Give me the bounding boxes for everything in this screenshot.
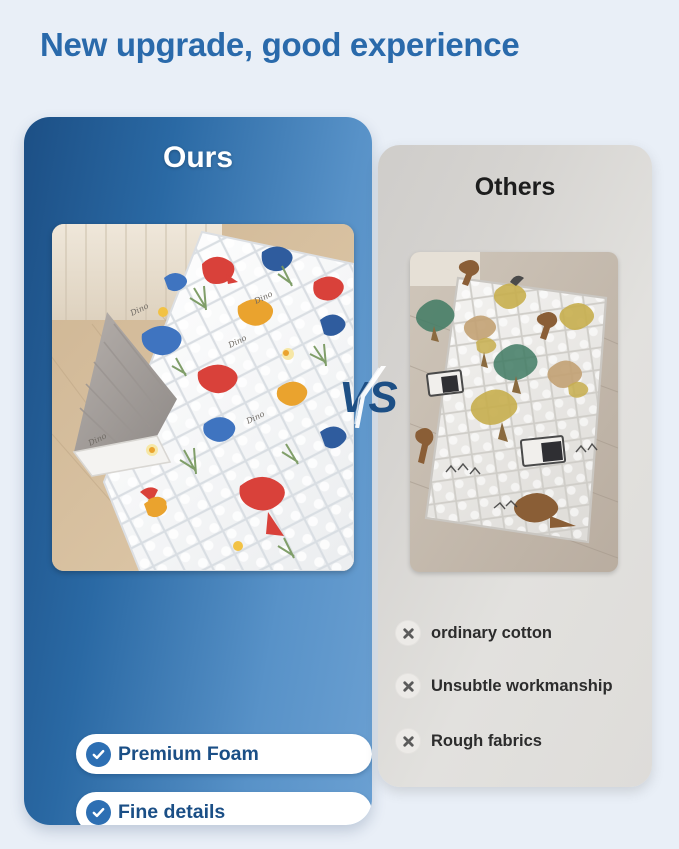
ours-title: Ours [24, 141, 372, 175]
feature-label: Premium Foam [118, 743, 259, 766]
drawback-label: Rough fabrics [431, 732, 542, 751]
x-icon [395, 728, 421, 754]
ours-card: Ours [24, 117, 372, 825]
x-icon [395, 673, 421, 699]
drawback-ordinary-cotton[interactable]: ordinary cotton [395, 618, 552, 648]
feature-label: Fine details [118, 801, 225, 824]
ours-photo-art: Dino Dino Dino Dino Dino [52, 224, 354, 571]
check-icon [86, 742, 111, 767]
others-photo-art [410, 252, 618, 572]
others-title: Others [378, 173, 652, 202]
feature-pill-fine-details[interactable]: Fine details [76, 792, 372, 825]
drawback-label: ordinary cotton [431, 624, 552, 643]
ours-product-photo: Dino Dino Dino Dino Dino [52, 224, 354, 571]
comparison-infographic: New upgrade, good experience Ours [0, 0, 679, 849]
feature-pill-premium-foam[interactable]: Premium Foam [76, 734, 372, 774]
page-title: New upgrade, good experience [40, 26, 660, 64]
x-icon [395, 620, 421, 646]
check-icon [86, 800, 111, 825]
drawback-rough-fabrics[interactable]: Rough fabrics [395, 726, 542, 756]
others-product-photo [410, 252, 618, 572]
drawback-label: Unsubtle workmanship [431, 677, 613, 696]
drawback-unsubtle-workmanship[interactable]: Unsubtle workmanship [395, 671, 613, 701]
